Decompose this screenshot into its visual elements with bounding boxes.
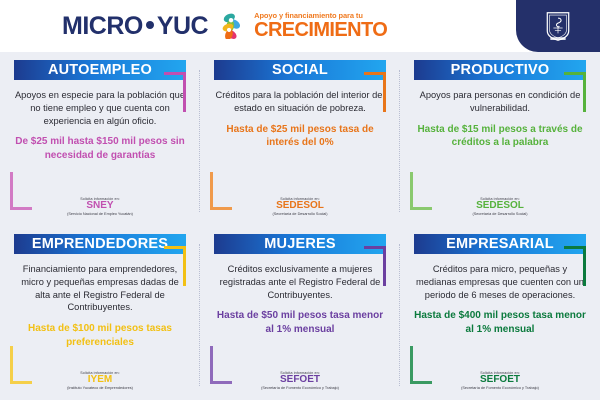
card-footer-subtitle: (Servicio Nacional de Empleo Yucatán) <box>67 212 133 216</box>
card-amount: De $25 mil hasta $150 mil pesos sin nece… <box>14 135 186 161</box>
brand-separator-dot <box>146 21 154 29</box>
card-footer: Solicita información en: SEFOET (Secreta… <box>261 371 339 397</box>
card-description: Apoyos en especie para la población que … <box>14 89 186 127</box>
program-card-emprendedores[interactable]: EMPRENDEDORES Financiamiento para empren… <box>0 226 200 400</box>
corner-bracket-bottom-left <box>10 346 32 384</box>
card-title: MUJERES <box>264 237 336 252</box>
card-amount: Hasta de $50 mil pesos tasa menor al 1% … <box>214 309 386 335</box>
brand-lockup: MICROYUC Apoyo y financiamiento para tu <box>62 12 387 41</box>
card-footer: Solicita información en: SNEY (Servicio … <box>67 197 133 223</box>
program-card-empresarial[interactable]: EMPRESARIAL Créditos para micro, pequeña… <box>400 226 600 400</box>
card-description: Financiamiento para emprendedores, micro… <box>14 263 186 314</box>
program-card-mujeres[interactable]: MUJERES Créditos exclusivamente a mujere… <box>200 226 400 400</box>
corner-bracket-bottom-left <box>410 346 432 384</box>
card-footer-org: SNEY <box>67 201 133 212</box>
card-footer-subtitle: (Instituto Yucateco de Emprendedores) <box>67 386 133 390</box>
card-amount: Hasta de $100 mil pesos tasas preferenci… <box>14 322 186 348</box>
card-description: Créditos exclusivamente a mujeres regist… <box>214 263 386 301</box>
card-footer: Solicita información en: SEFOET (Secreta… <box>461 371 539 397</box>
card-banner: AUTOEMPLEO <box>14 60 186 80</box>
corner-bracket-bottom-left <box>210 346 232 384</box>
card-footer-subtitle: (Secretaría de Desarrollo Social) <box>472 212 527 216</box>
card-banner: PRODUCTIVO <box>414 60 586 80</box>
yucatan-crest-icon <box>545 11 571 42</box>
program-card-productivo[interactable]: PRODUCTIVO Apoyos para personas en condi… <box>400 52 600 226</box>
brand-name: MICROYUC <box>62 14 208 39</box>
card-footer-subtitle: (Secretaría de Fomento Económico y Traba… <box>461 386 539 390</box>
card-footer-org: SEFOET <box>461 375 539 386</box>
card-banner: EMPRENDEDORES <box>14 234 186 254</box>
card-title: AUTOEMPLEO <box>48 63 152 78</box>
corner-bracket-bottom-left <box>210 172 232 210</box>
card-footer-org: SEDESOL <box>272 201 327 212</box>
card-banner: EMPRESARIAL <box>414 234 586 254</box>
card-amount: Hasta de $400 mil pesos tasa menor al 1%… <box>414 309 586 335</box>
page-header: MICROYUC Apoyo y financiamiento para tu <box>0 0 600 52</box>
card-description: Créditos para micro, pequeñas y medianas… <box>414 263 586 301</box>
card-description: Créditos para la población del interior … <box>214 89 386 115</box>
corner-bracket-bottom-left <box>10 172 32 210</box>
card-title: EMPRENDEDORES <box>32 237 168 252</box>
card-footer: Solicita información en: SEDESOL (Secret… <box>472 197 527 223</box>
card-footer-subtitle: (Secretaría de Desarrollo Social) <box>272 212 327 216</box>
card-banner: MUJERES <box>214 234 386 254</box>
card-title: EMPRESARIAL <box>446 237 554 252</box>
program-card-grid: AUTOEMPLEO Apoyos en especie para la pob… <box>0 52 600 400</box>
card-footer-subtitle: (Secretaría de Fomento Económico y Traba… <box>261 386 339 390</box>
brand-name-yuc: YUC <box>157 12 208 40</box>
program-card-social[interactable]: SOCIAL Créditos para la población del in… <box>200 52 400 226</box>
card-title: PRODUCTIVO <box>451 63 550 78</box>
card-footer-org: IYEM <box>67 375 133 386</box>
tagline-small: Apoyo y financiamiento para tu <box>254 12 387 20</box>
card-amount: Hasta de $25 mil pesos tasa de interés d… <box>214 123 386 149</box>
tagline-big: CRECIMIENTO <box>254 20 387 40</box>
card-footer-org: SEFOET <box>261 375 339 386</box>
program-card-autoempleo[interactable]: AUTOEMPLEO Apoyos en especie para la pob… <box>0 52 200 226</box>
corner-bracket-bottom-left <box>410 172 432 210</box>
card-description: Apoyos para personas en condición de vul… <box>414 89 586 115</box>
tagline-block: Apoyo y financiamiento para tu CRECIMIEN… <box>254 12 387 41</box>
card-footer: Solicita información en: SEDESOL (Secret… <box>272 197 327 223</box>
card-footer: Solicita información en: IYEM (Instituto… <box>67 371 133 397</box>
government-seal-panel <box>516 0 600 52</box>
card-title: SOCIAL <box>272 63 328 78</box>
card-banner: SOCIAL <box>214 60 386 80</box>
card-amount: Hasta de $15 mil pesos a través de crédi… <box>414 123 586 149</box>
brand-name-micro: MICRO <box>62 12 143 40</box>
card-footer-org: SEDESOL <box>472 201 527 212</box>
flower-logo-icon <box>218 13 244 39</box>
